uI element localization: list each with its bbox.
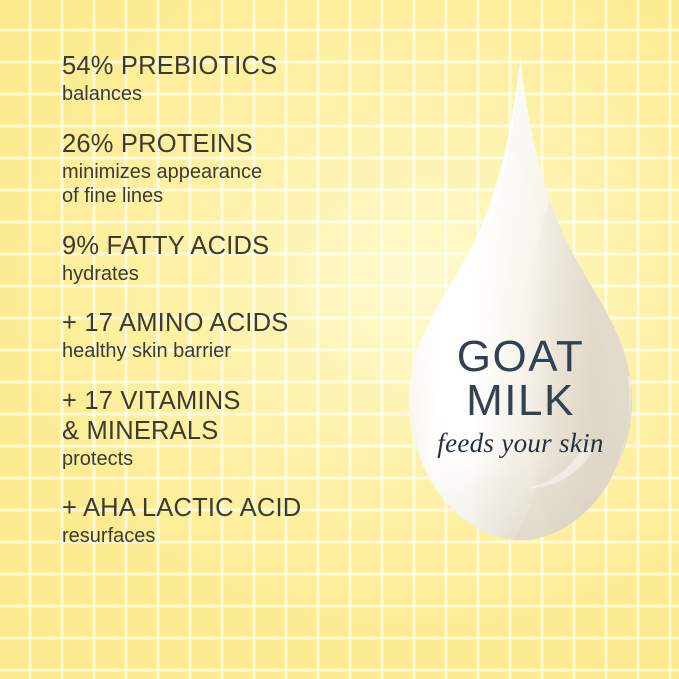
benefit-title: 54% PREBIOTICS [62, 51, 392, 81]
product-benefits-infographic: 54% PREBIOTICS balances 26% PROTEINS min… [0, 0, 679, 679]
benefit-item-vitamins-minerals: + 17 VITAMINS & MINERALS protects [62, 386, 392, 472]
benefit-title: 9% FATTY ACIDS [62, 231, 392, 261]
milk-droplet: GOAT MILK feeds your skin [378, 46, 663, 556]
benefit-description: healthy skin barrier [62, 339, 392, 364]
benefit-title: + 17 AMINO ACIDS [62, 308, 392, 338]
benefit-item-fatty-acids: 9% FATTY ACIDS hydrates [62, 231, 392, 287]
benefit-description: resurfaces [62, 524, 392, 549]
benefit-title: 26% PROTEINS [62, 129, 392, 159]
milk-droplet-icon [378, 46, 663, 556]
benefits-list: 54% PREBIOTICS balances 26% PROTEINS min… [62, 51, 392, 549]
benefit-item-proteins: 26% PROTEINS minimizes appearance of fin… [62, 129, 392, 209]
benefit-item-prebiotics: 54% PREBIOTICS balances [62, 51, 392, 107]
benefit-item-aha-lactic-acid: + AHA LACTIC ACID resurfaces [62, 493, 392, 549]
benefit-item-amino-acids: + 17 AMINO ACIDS healthy skin barrier [62, 308, 392, 364]
benefit-title: + 17 VITAMINS & MINERALS [62, 386, 392, 446]
benefit-description: hydrates [62, 262, 392, 287]
benefit-title: + AHA LACTIC ACID [62, 493, 392, 523]
benefit-description: protects [62, 447, 392, 472]
benefit-description: balances [62, 82, 392, 107]
benefit-description: minimizes appearance of fine lines [62, 160, 392, 209]
